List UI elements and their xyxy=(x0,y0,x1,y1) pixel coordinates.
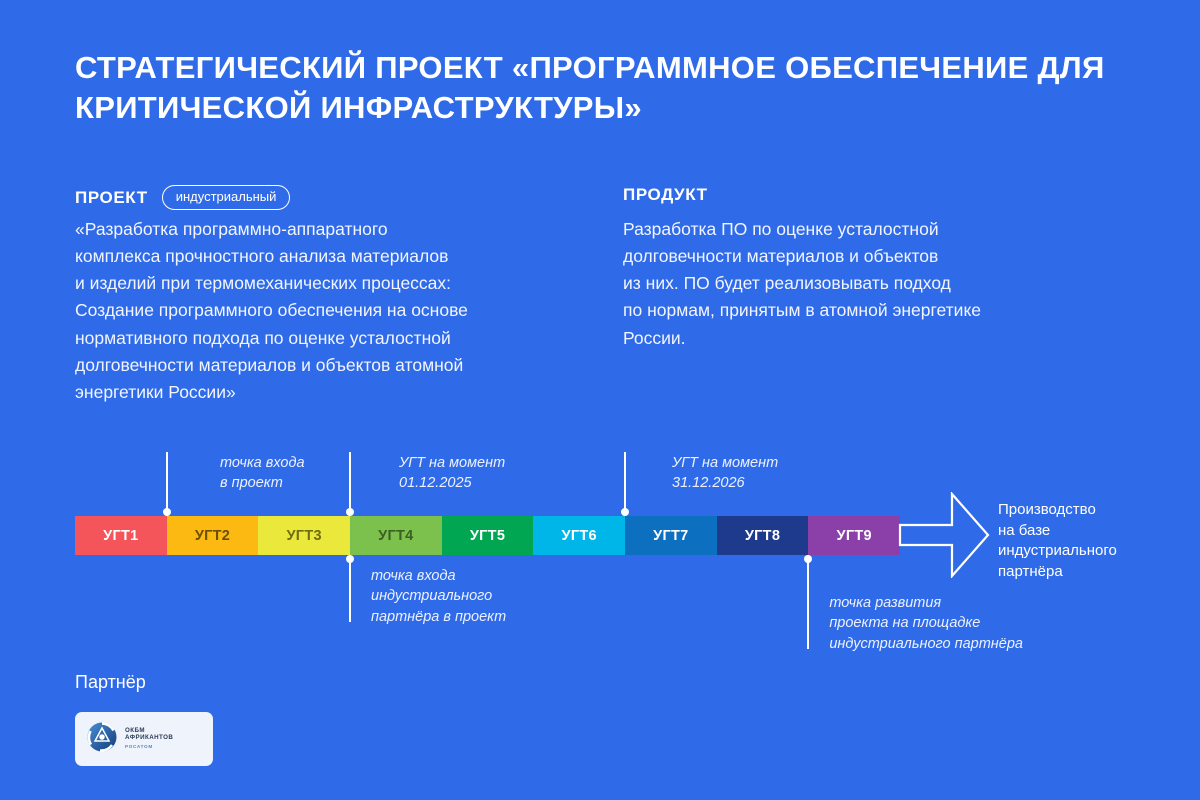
trl-segment-4[interactable]: УГТ4 xyxy=(350,516,442,555)
partner-logo-line3: РОСАТОМ xyxy=(125,744,173,749)
okbm-atom-icon xyxy=(87,722,117,757)
timeline-callout-above: точка входа в проект xyxy=(220,453,305,494)
trl-segment-9[interactable]: УГТ9 xyxy=(808,516,900,555)
partner-logo-text: ОКБМ АФРИКАНТОВ РОСАТОМ xyxy=(125,728,173,749)
trl-segment-6[interactable]: УГТ6 xyxy=(533,516,625,555)
trl-segment-label: УГТ5 xyxy=(470,528,505,544)
trl-segment-label: УГТ9 xyxy=(837,528,872,544)
timeline-callout-above: УГТ на момент 01.12.2025 xyxy=(399,453,505,494)
timeline-callout-above: УГТ на момент 31.12.2026 xyxy=(672,453,778,494)
trl-segment-label: УГТ4 xyxy=(378,528,413,544)
product-heading-label: ПРОДУКТ xyxy=(623,185,708,204)
project-heading-label: ПРОЕКТ xyxy=(75,188,148,207)
trl-segment-3[interactable]: УГТ3 xyxy=(258,516,350,555)
project-description: «Разработка программно-аппаратного компл… xyxy=(75,216,585,406)
production-arrow-label: Производство на базе индустриального пар… xyxy=(998,500,1117,583)
callout-connector xyxy=(807,555,809,649)
callout-dot xyxy=(346,508,354,516)
trl-segment-5[interactable]: УГТ5 xyxy=(442,516,534,555)
callout-connector xyxy=(166,452,168,516)
partner-label: Партнёр xyxy=(75,672,146,693)
callout-dot xyxy=(163,508,171,516)
callout-dot xyxy=(804,555,812,563)
infographic-slide: СТРАТЕГИЧЕСКИЙ ПРОЕКТ «ПРОГРАММНОЕ ОБЕСП… xyxy=(0,0,1200,800)
project-heading: ПРОЕКТиндустриальный xyxy=(75,185,290,210)
trl-segment-1[interactable]: УГТ1 xyxy=(75,516,167,555)
partner-logo-card[interactable]: ОКБМ АФРИКАНТОВ РОСАТОМ xyxy=(75,712,213,766)
callout-dot xyxy=(346,555,354,563)
trl-segment-2[interactable]: УГТ2 xyxy=(167,516,259,555)
trl-segment-label: УГТ6 xyxy=(562,528,597,544)
trl-segment-label: УГТ8 xyxy=(745,528,780,544)
partner-logo-line2: АФРИКАНТОВ xyxy=(125,735,173,742)
trl-timeline: УГТ1УГТ2УГТ3УГТ4УГТ5УГТ6УГТ7УГТ8УГТ9 xyxy=(75,516,900,555)
timeline-callout-below: точка входа индустриального партнёра в п… xyxy=(371,566,506,627)
callout-connector xyxy=(349,452,351,516)
product-description: Разработка ПО по оценке усталостной долг… xyxy=(623,216,1093,352)
callout-connector xyxy=(349,555,351,622)
timeline-callout-below: точка развития проекта на площадке индус… xyxy=(829,593,1023,654)
trl-segment-label: УГТ1 xyxy=(103,528,138,544)
product-heading: ПРОДУКТ xyxy=(623,185,708,205)
trl-segment-8[interactable]: УГТ8 xyxy=(717,516,809,555)
trl-segment-label: УГТ7 xyxy=(653,528,688,544)
trl-segment-7[interactable]: УГТ7 xyxy=(625,516,717,555)
trl-segment-label: УГТ2 xyxy=(195,528,230,544)
trl-segment-label: УГТ3 xyxy=(286,528,321,544)
production-arrow xyxy=(898,492,990,578)
project-type-badge: индустриальный xyxy=(162,185,291,210)
callout-dot xyxy=(621,508,629,516)
page-title: СТРАТЕГИЧЕСКИЙ ПРОЕКТ «ПРОГРАММНОЕ ОБЕСП… xyxy=(75,48,1115,129)
callout-connector xyxy=(624,452,626,516)
